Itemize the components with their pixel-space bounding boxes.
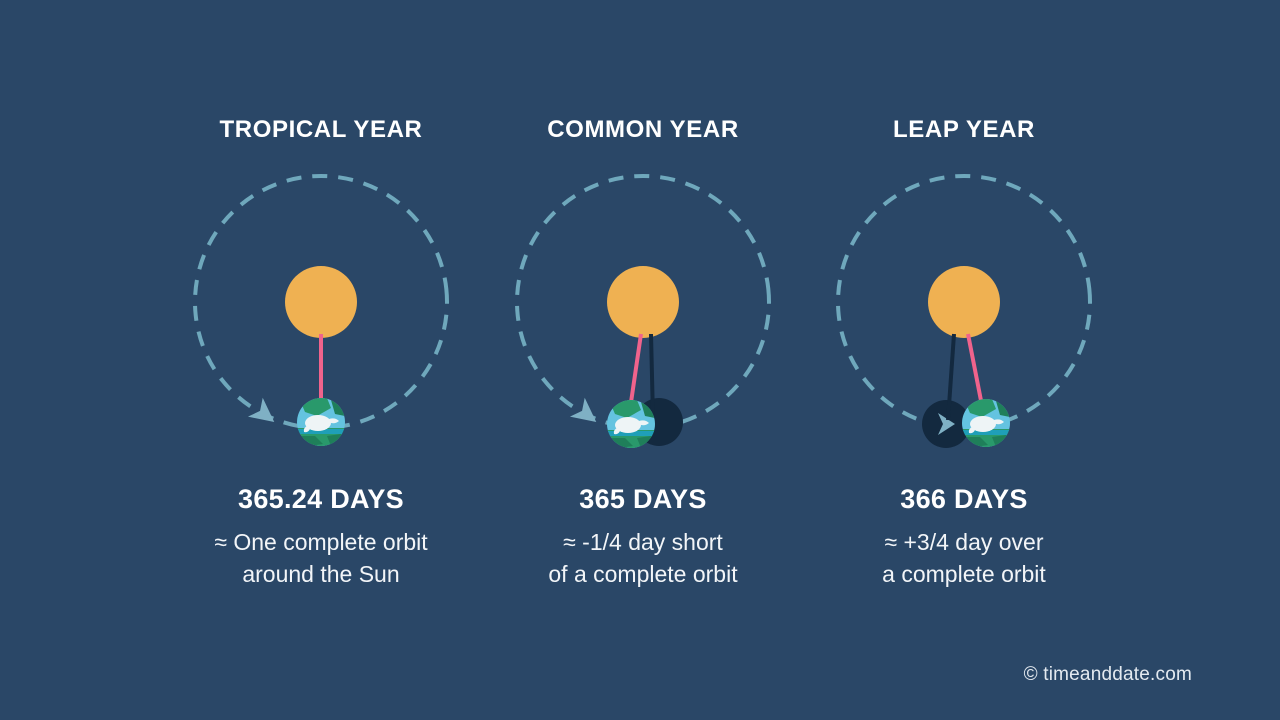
earth-icon <box>297 398 345 446</box>
panel-leap-year: LEAP YEAR <box>794 0 1134 620</box>
panel-title-tropical: TROPICAL YEAR <box>151 113 491 147</box>
earth-icon <box>962 399 1010 447</box>
panel-tropical-year: TROPICAL YEAR <box>151 0 491 620</box>
panel-days-tropical: 365.24 DAYS <box>151 482 491 516</box>
panel-days-leap: 366 DAYS <box>794 482 1134 516</box>
infographic-canvas: TROPICAL YEAR <box>0 0 1280 720</box>
panel-description-leap: ≈ +3/4 day over a complete orbit <box>794 526 1134 590</box>
sun-icon <box>607 266 679 338</box>
orbit-direction-arrow-icon <box>248 398 282 432</box>
earth-icon <box>607 400 655 448</box>
copyright-credit: © timeanddate.com <box>1024 664 1192 686</box>
panel-title-common: COMMON YEAR <box>473 113 813 147</box>
orbit-direction-arrow-icon <box>570 398 604 432</box>
panel-description-common: ≈ -1/4 day short of a complete orbit <box>473 526 813 590</box>
reference-line-dark-icon <box>651 334 653 418</box>
sun-icon <box>928 266 1000 338</box>
panel-title-leap: LEAP YEAR <box>794 113 1134 147</box>
orbit-diagram-tropical <box>151 166 491 466</box>
panel-days-common: 365 DAYS <box>473 482 813 516</box>
panel-description-tropical: ≈ One complete orbit around the Sun <box>151 526 491 590</box>
orbit-diagram-leap <box>794 166 1134 466</box>
orbit-diagram-common <box>473 166 813 466</box>
panel-common-year: COMMON YEAR <box>473 0 813 620</box>
sun-icon <box>285 266 357 338</box>
